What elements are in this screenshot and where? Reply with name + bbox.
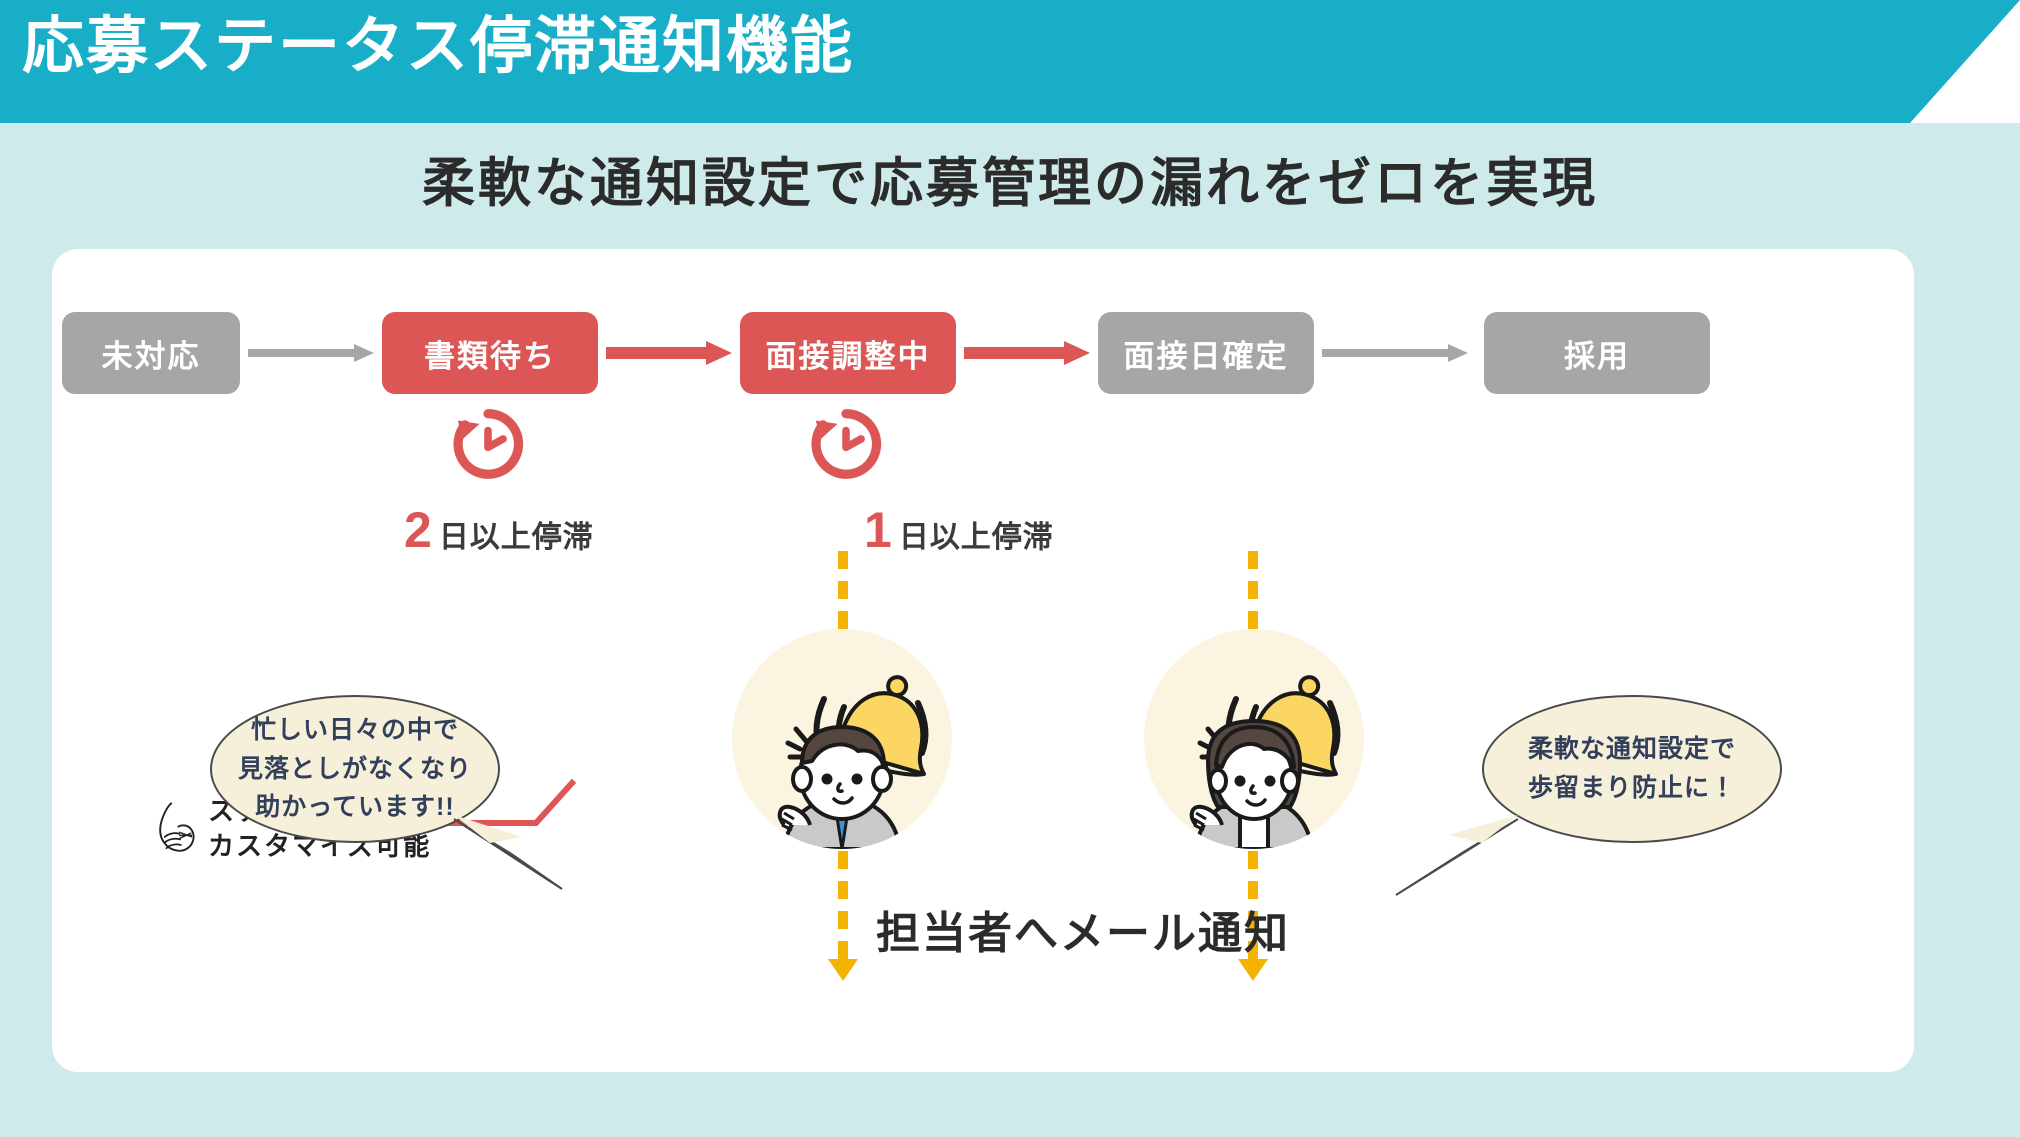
testimonial-bubble-right-tail [1392,805,1522,905]
male-staff-avatar [732,629,952,849]
testimonial-left-line3: 助かっています!! [238,788,472,827]
testimonial-left-line2: 見落としがなくなり [238,750,472,789]
arrow-shaft [964,347,1064,359]
status-step-mitaiou[interactable]: 未対応 [62,312,240,394]
arrow-shaft [248,349,354,357]
flow-arrow-3 [964,344,1090,362]
status-step-mensetsu-chousei[interactable]: 面接調整中 [740,312,956,394]
notification-banner-label: 担当者へメール通知 [876,909,1290,958]
stall-unit-2: 日以上停滞 [899,512,1054,556]
arrow-head-down-icon [828,959,858,981]
status-step-saiyou[interactable]: 採用 [1484,312,1710,394]
stall-days-1: 2 [404,505,433,555]
content-card: 未対応 書類待ち 面接調整中 面接日確定 採用 [52,249,1914,1072]
arrow-shaft [606,347,706,359]
arrow-head [354,344,374,362]
testimonial-right-line1: 柔軟な通知設定で [1528,730,1736,769]
female-staff-avatar [1144,629,1364,849]
flow-arrow-2 [606,344,732,362]
arrow-head [1448,344,1468,362]
testimonial-right-line2: 歩留まり防止に！ [1528,769,1736,808]
stall-unit-1: 日以上停滞 [439,512,594,556]
stall-days-2: 1 [864,505,893,555]
testimonial-bubble-left-tail [450,809,570,899]
testimonial-left-text: 忙しい日々の中で 見落としがなくなり 助かっています!! [238,711,472,827]
pointing-hand-icon [152,800,200,858]
status-flow: 未対応 書類待ち 面接調整中 面接日確定 採用 [52,249,1914,369]
clock-rotate-icon-1 [446,402,530,486]
stall-rule-1: 2 日以上停滞 [404,505,594,556]
status-step-mensetsubi-kakutei[interactable]: 面接日確定 [1098,312,1314,394]
flow-arrow-1 [248,344,374,362]
stall-rule-2: 1 日以上停滞 [864,505,1054,556]
arrow-shaft [1322,349,1448,357]
infographic-root: 応募ステータス停滞通知機能 柔軟な通知設定で応募管理の漏れをゼロを実現 未対応 … [0,0,2020,1137]
page-title: 応募ステータス停滞通知機能 [22,8,854,86]
notification-banner: 担当者へメール通知 [870,897,1296,965]
arrow-head [1064,341,1090,365]
clock-rotate-icon-2 [804,402,888,486]
testimonial-bubble-right: 柔軟な通知設定で 歩留まり防止に！ [1482,695,1782,843]
arrow-head [706,341,732,365]
page-subtitle: 柔軟な通知設定で応募管理の漏れをゼロを実現 [0,141,2020,217]
testimonial-right-text: 柔軟な通知設定で 歩留まり防止に！ [1528,730,1736,808]
status-step-shorui-machi[interactable]: 書類待ち [382,312,598,394]
testimonial-left-line1: 忙しい日々の中で [238,711,472,750]
flow-arrow-4 [1322,344,1468,362]
